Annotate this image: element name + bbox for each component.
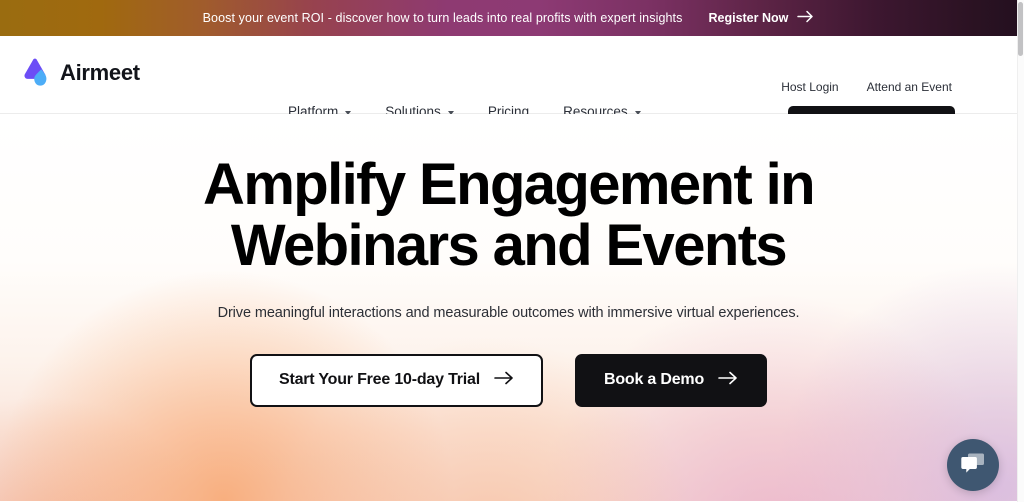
airmeet-logo[interactable]: Airmeet xyxy=(21,57,140,88)
book-a-demo-button[interactable]: Book a Demo xyxy=(575,354,767,407)
register-now-link[interactable]: Register Now xyxy=(708,10,814,26)
airmeet-droplet-logo xyxy=(21,57,51,88)
start-free-trial-label: Start Your Free 10-day Trial xyxy=(279,371,480,389)
hero-cta-group: Start Your Free 10-day Trial Book a Demo xyxy=(0,354,1017,407)
page-title: Amplify Engagement in Webinars and Event… xyxy=(0,154,1017,277)
book-a-demo-label: Book a Demo xyxy=(604,371,704,389)
hero-subtitle: Drive meaningful interactions and measur… xyxy=(0,305,1017,321)
hero-content: Amplify Engagement in Webinars and Event… xyxy=(0,114,1017,407)
arrow-right-icon xyxy=(718,371,738,390)
chat-widget-button[interactable] xyxy=(947,439,999,491)
promo-banner: Boost your event ROI - discover how to t… xyxy=(0,0,1017,36)
utility-links: Host Login Attend an Event xyxy=(781,80,955,94)
arrow-right-icon xyxy=(797,10,814,26)
logo-text: Airmeet xyxy=(60,60,140,86)
hero-title-line-1: Amplify Engagement in xyxy=(203,152,814,217)
register-now-label: Register Now xyxy=(708,11,788,25)
scrollbar-thumb[interactable] xyxy=(1018,2,1023,56)
arrow-right-icon xyxy=(494,371,514,390)
chat-bubbles-icon xyxy=(960,451,986,480)
hero-section: Amplify Engagement in Webinars and Event… xyxy=(0,114,1017,501)
attend-an-event-link[interactable]: Attend an Event xyxy=(867,80,952,94)
page-scrollbar[interactable] xyxy=(1017,0,1024,502)
hero-title-line-2: Webinars and Events xyxy=(231,213,786,278)
site-header: Airmeet Platform Solutions Pricing Resou… xyxy=(0,36,1017,114)
promo-banner-message: Boost your event ROI - discover how to t… xyxy=(203,11,683,25)
host-login-link[interactable]: Host Login xyxy=(781,80,838,94)
start-free-trial-button[interactable]: Start Your Free 10-day Trial xyxy=(250,354,543,407)
